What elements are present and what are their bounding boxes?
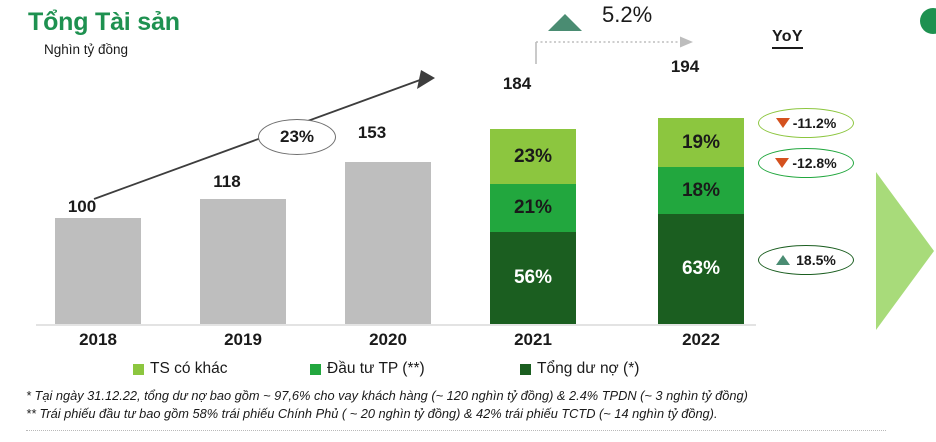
- yoy-heading: YoY: [772, 28, 803, 49]
- bottom-divider: [26, 430, 886, 432]
- decorative-corner-dot: [920, 8, 936, 34]
- x-tick-2021: 2021: [478, 330, 588, 350]
- legend-label: Đầu tư TP (**): [327, 360, 425, 378]
- bar-segment-total-2020: [345, 162, 431, 324]
- x-tick-2019: 2019: [188, 330, 298, 350]
- bar-2022[interactable]: 19% 18% 63%: [658, 118, 744, 324]
- yoy-badge-tong-du-no: 18.5%: [758, 245, 854, 275]
- triangle-up-icon: [776, 255, 790, 265]
- bar-segment-dau-tu-tp-2022: 18%: [658, 167, 744, 214]
- yoy-badge-value: -11.2%: [793, 115, 837, 131]
- yoy-badge-value: -12.8%: [792, 155, 836, 171]
- bar-2019[interactable]: [200, 199, 286, 324]
- legend-item-ts-co-khac[interactable]: TS có khác: [133, 360, 228, 378]
- decorative-right-arrow: [876, 172, 934, 330]
- triangle-up-icon: [548, 14, 582, 31]
- triangle-down-icon: [775, 158, 789, 168]
- x-axis-line: [36, 324, 756, 326]
- footnote-2: ** Trái phiếu đầu tư bao gồm 58% trái ph…: [26, 406, 718, 421]
- bar-segment-total-2018: [55, 218, 141, 324]
- legend-swatch-icon: [520, 364, 531, 375]
- legend-item-tong-du-no[interactable]: Tổng dư nợ (*): [520, 360, 639, 378]
- yoy-badge-ts-co-khac: -11.2%: [758, 108, 854, 138]
- legend-item-dau-tu-tp[interactable]: Đầu tư TP (**): [310, 360, 425, 378]
- legend-label: Tổng dư nợ (*): [537, 360, 639, 378]
- x-tick-2018: 2018: [43, 330, 153, 350]
- cagr-badge-value: 23%: [280, 127, 314, 147]
- bar-segment-total-2019: [200, 199, 286, 324]
- chart-subtitle: Nghìn tỷ đồng: [44, 42, 128, 57]
- bar-segment-dau-tu-tp-2021: 21%: [490, 184, 576, 232]
- legend-swatch-icon: [310, 364, 321, 375]
- bar-total-2019: 118: [172, 172, 282, 192]
- yoy-badge-dau-tu-tp: -12.8%: [758, 148, 854, 178]
- page-title: Tổng Tài sản: [28, 8, 180, 37]
- bar-segment-tong-du-no-2022: 63%: [658, 214, 744, 324]
- yoy-badge-value: 18.5%: [796, 252, 836, 268]
- x-tick-2020: 2020: [333, 330, 443, 350]
- bar-segment-ts-co-khac-2021: 23%: [490, 129, 576, 184]
- chart-slide: Tổng Tài sản Nghìn tỷ đồng 5.2% 23% 100 …: [0, 0, 936, 442]
- growth-callout-value: 5.2%: [602, 2, 652, 28]
- bar-2020[interactable]: [345, 162, 431, 324]
- bar-2021[interactable]: 23% 21% 56%: [490, 129, 576, 324]
- x-tick-2022: 2022: [646, 330, 756, 350]
- legend-label: TS có khác: [150, 360, 228, 378]
- legend-swatch-icon: [133, 364, 144, 375]
- bar-segment-ts-co-khac-2022: 19%: [658, 118, 744, 167]
- bar-2018[interactable]: [55, 218, 141, 324]
- bar-total-2018: 100: [27, 197, 137, 217]
- bar-total-2021: 184: [462, 74, 572, 94]
- bar-total-2022: 194: [630, 57, 740, 77]
- footnote-1: * Tại ngày 31.12.22, tổng dư nợ bao gồm …: [26, 388, 748, 403]
- bar-segment-tong-du-no-2021: 56%: [490, 232, 576, 324]
- bar-total-2020: 153: [317, 123, 427, 143]
- triangle-down-icon: [776, 118, 790, 128]
